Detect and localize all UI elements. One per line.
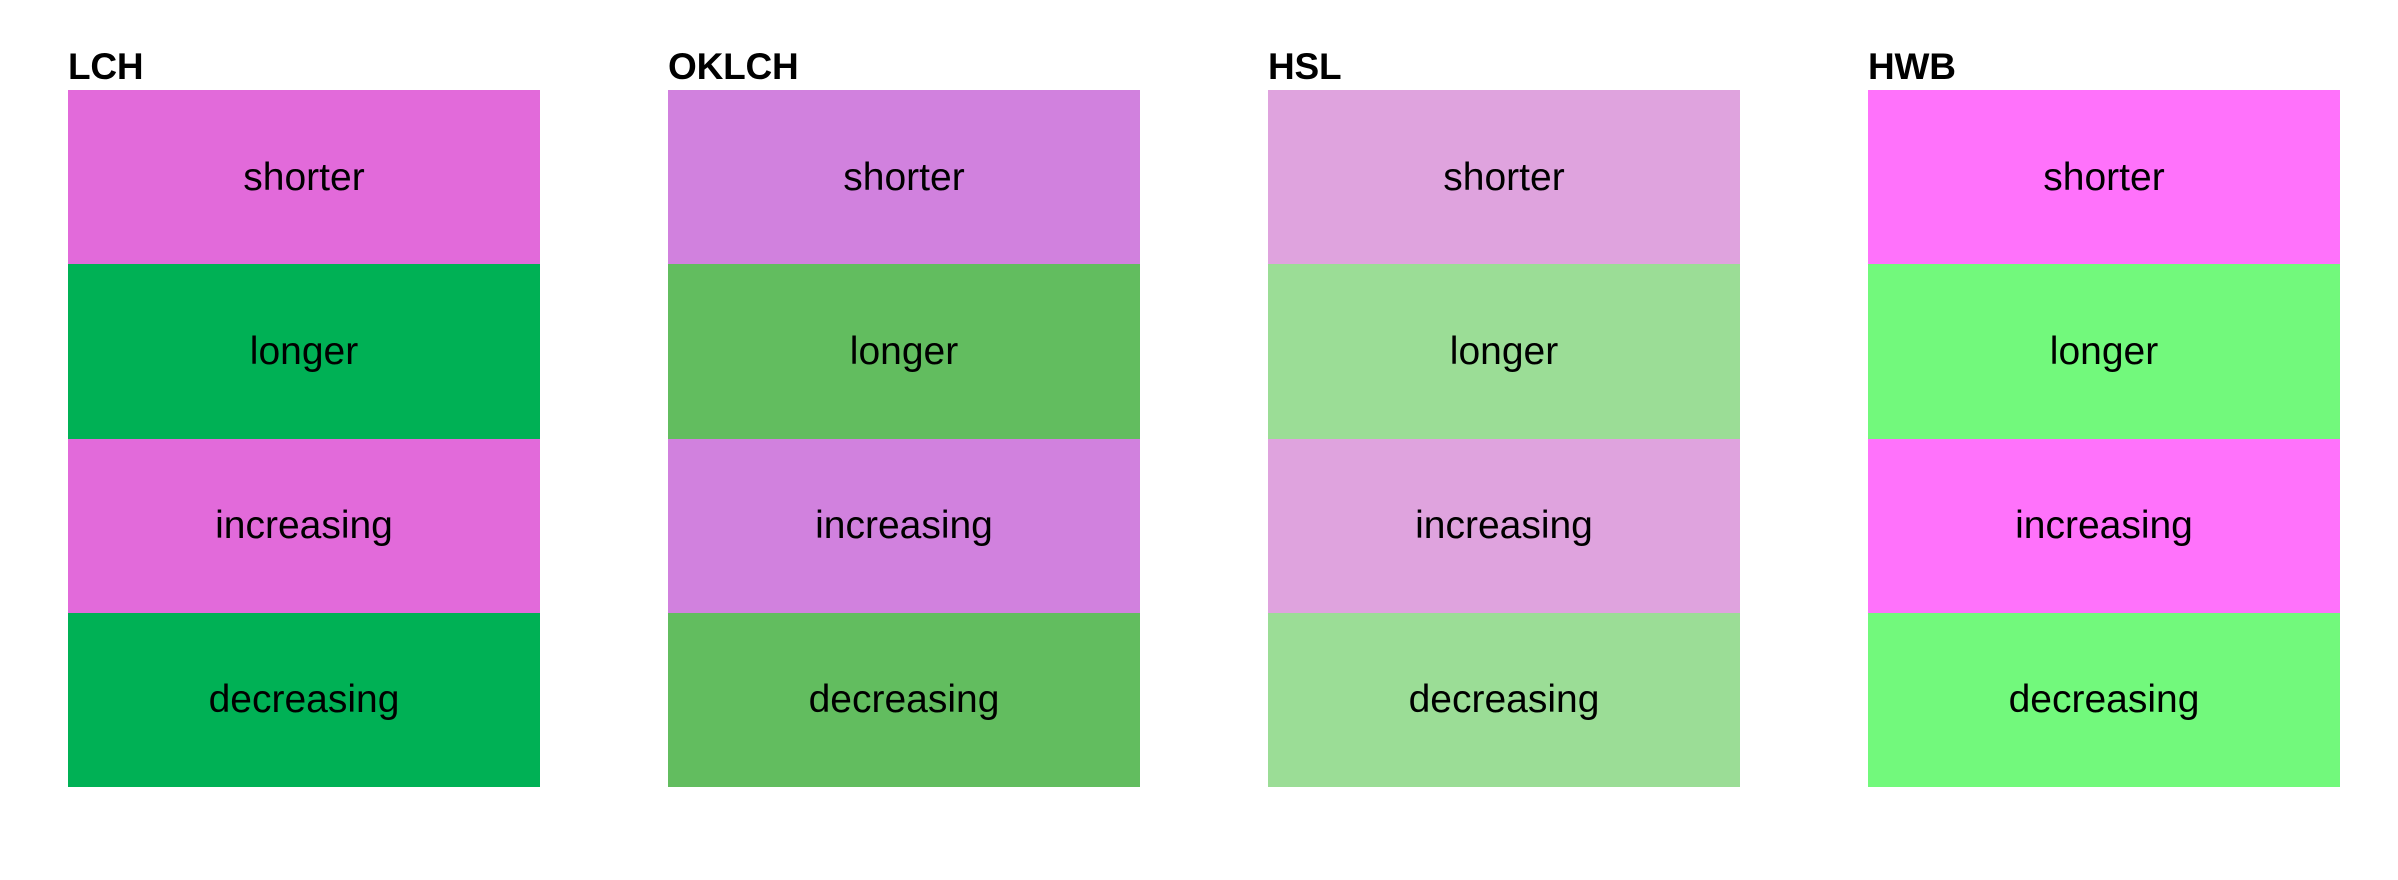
gradient-band: longer — [1868, 264, 2340, 438]
gradient-swatch-block: shorterlongerincreasingdecreasing — [68, 90, 540, 787]
band-label: longer — [250, 332, 358, 371]
band-label: shorter — [243, 158, 364, 197]
column-title: HWB — [1868, 42, 2340, 90]
gradient-band: longer — [668, 264, 1140, 438]
gradient-band: decreasing — [1268, 613, 1740, 787]
gradient-band: shorter — [668, 90, 1140, 264]
band-label: decreasing — [2009, 680, 2200, 719]
gradient-band: decreasing — [668, 613, 1140, 787]
gradient-band: decreasing — [1868, 613, 2340, 787]
band-label: longer — [2050, 332, 2158, 371]
band-label: longer — [850, 332, 958, 371]
gradient-swatch-block: shorterlongerincreasingdecreasing — [1868, 90, 2340, 787]
band-label: shorter — [843, 158, 964, 197]
column-title: LCH — [68, 42, 540, 90]
gradient-band: increasing — [1268, 439, 1740, 613]
gradient-band: increasing — [668, 439, 1140, 613]
band-label: increasing — [2015, 506, 2193, 545]
gradient-band: shorter — [1868, 90, 2340, 264]
gradient-band: decreasing — [68, 613, 540, 787]
color-space-column: OKLCHshorterlongerincreasingdecreasing — [668, 42, 1140, 787]
page-canvas: LCHshorterlongerincreasingdecreasingOKLC… — [0, 0, 2398, 880]
band-label: longer — [1450, 332, 1558, 371]
gradient-swatch-block: shorterlongerincreasingdecreasing — [668, 90, 1140, 787]
band-label: decreasing — [809, 680, 1000, 719]
gradient-band: increasing — [1868, 439, 2340, 613]
band-label: shorter — [2043, 158, 2164, 197]
band-label: increasing — [815, 506, 993, 545]
gradient-band: longer — [1268, 264, 1740, 438]
band-label: decreasing — [209, 680, 400, 719]
gradient-swatch-block: shorterlongerincreasingdecreasing — [1268, 90, 1740, 787]
color-space-comparison: LCHshorterlongerincreasingdecreasingOKLC… — [68, 42, 2340, 787]
band-label: increasing — [215, 506, 393, 545]
band-label: increasing — [1415, 506, 1593, 545]
color-space-column: LCHshorterlongerincreasingdecreasing — [68, 42, 540, 787]
gradient-band: increasing — [68, 439, 540, 613]
band-label: shorter — [1443, 158, 1564, 197]
gradient-band: longer — [68, 264, 540, 438]
gradient-band: shorter — [1268, 90, 1740, 264]
gradient-band: shorter — [68, 90, 540, 264]
color-space-column: HSLshorterlongerincreasingdecreasing — [1268, 42, 1740, 787]
column-title: OKLCH — [668, 42, 1140, 90]
color-space-column: HWBshorterlongerincreasingdecreasing — [1868, 42, 2340, 787]
band-label: decreasing — [1409, 680, 1600, 719]
column-title: HSL — [1268, 42, 1740, 90]
